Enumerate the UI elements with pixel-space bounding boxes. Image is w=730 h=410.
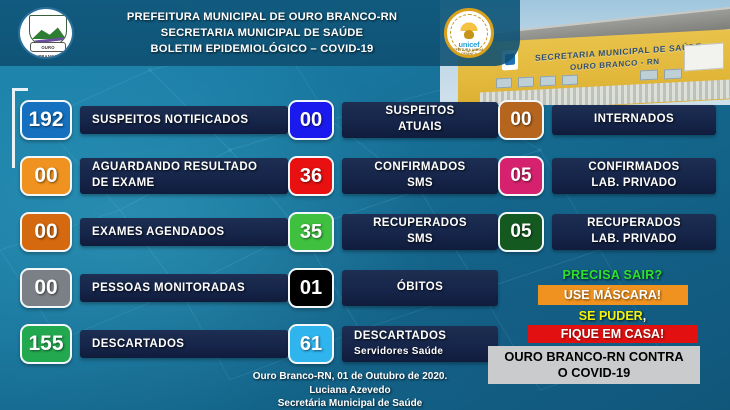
stat-row-internados: 00INTERNADOS	[498, 98, 716, 142]
stat-label-recuperados: RECUPERADOSSMS	[342, 214, 498, 250]
awareness-panel: PRECISA SAIR? USE MÁSCARA! SE PUDER, FIQ…	[500, 268, 725, 384]
stat-value-suspeitos: 00	[288, 100, 334, 140]
stat-value-confirmados: 05	[498, 156, 544, 196]
stat-row-recuperados: 35RECUPERADOSSMS	[288, 210, 498, 254]
stat-row-recuperados: 05RECUPERADOSLAB. PRIVADO	[498, 210, 716, 254]
stat-label-descartados: DESCARTADOSServidores Saúde	[342, 326, 498, 362]
stat-label-line2: Servidores Saúde	[354, 345, 443, 359]
stat-label-line1: RECUPERADOS	[587, 216, 681, 232]
awareness-se-puder-comma: ,	[643, 309, 646, 323]
stat-label-line2: ATUAIS	[398, 120, 442, 136]
stats-column-left: 192SUSPEITOS NOTIFICADOS00AGUARDANDO RES…	[20, 98, 288, 378]
stat-row-confirmados: 05CONFIRMADOSLAB. PRIVADO	[498, 154, 716, 198]
awareness-use-mascara: USE MÁSCARA!	[538, 285, 688, 305]
stat-label-line2: LAB. PRIVADO	[591, 232, 676, 248]
unicef-seal-icon: unicef PREFEITURA AMIGA DA CRIANÇA	[444, 8, 494, 58]
stat-value-descartados: 155	[20, 324, 72, 364]
unicef-figure	[464, 30, 474, 39]
stat-row-descartados: 155DESCARTADOS	[20, 322, 288, 366]
photo-window	[496, 78, 512, 89]
stats-column-right: 00INTERNADOS05CONFIRMADOSLAB. PRIVADO05R…	[498, 98, 716, 266]
stat-label-line1: PESSOAS MONITORADAS	[92, 282, 245, 294]
stat-row-pessoas-monitoradas: 00PESSOAS MONITORADAS	[20, 266, 288, 310]
stat-value-pessoas-monitoradas: 00	[20, 268, 72, 308]
crest-ribbon-label: OURO BRANCO	[30, 42, 66, 52]
awareness-precisa-sair: PRECISA SAIR?	[500, 268, 725, 282]
stat-row-exames-agendados: 00EXAMES AGENDADOS	[20, 210, 288, 254]
stat-label-line2: SMS	[407, 176, 433, 192]
stat-label-line2: DE EXAME	[92, 176, 154, 192]
stat-value-recuperados: 35	[288, 212, 334, 252]
photo-window	[540, 76, 556, 87]
stat-label-line1: RECUPERADOS	[373, 216, 467, 232]
footer: Ouro Branco-RN, 01 de Outubro de 2020. L…	[150, 370, 550, 410]
stat-label-descartados: DESCARTADOS	[80, 330, 288, 358]
footer-author: Luciana Azevedo	[150, 384, 550, 398]
stat-row-obitos: 01ÓBITOS	[288, 266, 498, 310]
stat-value-obitos: 01	[288, 268, 334, 308]
stat-value-suspeitos-notificados: 192	[20, 100, 72, 140]
stat-label-suspeitos-notificados: SUSPEITOS NOTIFICADOS	[80, 106, 288, 134]
unicef-subtitle: PREFEITURA AMIGA DA CRIANÇA	[447, 48, 491, 56]
stats-column-middle: 00SUSPEITOSATUAIS36CONFIRMADOSSMS35RECUP…	[288, 98, 498, 378]
stat-label-line1: INTERNADOS	[594, 112, 674, 128]
stat-label-exames-agendados: EXAMES AGENDADOS	[80, 218, 288, 246]
stat-label-line1: CONFIRMADOS	[588, 160, 679, 176]
awareness-fique-em-casa: FIQUE EM CASA!	[528, 325, 698, 343]
stat-label-confirmados: CONFIRMADOSLAB. PRIVADO	[552, 158, 716, 194]
stat-row-confirmados: 36CONFIRMADOSSMS	[288, 154, 498, 198]
stat-label-pessoas-monitoradas: PESSOAS MONITORADAS	[80, 274, 288, 302]
stat-label-aguardando-resultado: AGUARDANDO RESULTADODE EXAME	[80, 158, 288, 194]
footer-date: Ouro Branco-RN, 01 de Outubro de 2020.	[150, 370, 550, 384]
stat-label-internados: INTERNADOS	[552, 105, 716, 135]
crest-hill	[32, 25, 66, 39]
stat-row-suspeitos: 00SUSPEITOSATUAIS	[288, 98, 498, 142]
stat-label-line2: LAB. PRIVADO	[591, 176, 676, 192]
stat-value-aguardando-resultado: 00	[20, 156, 72, 196]
stat-label-line1: AGUARDANDO RESULTADO	[92, 160, 257, 176]
building-plaque	[684, 43, 724, 72]
stat-value-exames-agendados: 00	[20, 212, 72, 252]
stat-value-confirmados: 36	[288, 156, 334, 196]
header-line-boletim: BOLETIM EPIDEMIOLÓGICO – COVID-19	[82, 41, 442, 57]
stat-row-suspeitos-notificados: 192SUSPEITOS NOTIFICADOS	[20, 98, 288, 142]
stat-label-line1: ÓBITOS	[397, 280, 443, 296]
photo-window	[640, 70, 658, 81]
awareness-contra-line1: OURO BRANCO-RN CONTRA	[492, 349, 696, 365]
stat-label-recuperados: RECUPERADOSLAB. PRIVADO	[552, 214, 716, 250]
footer-role: Secretária Municipal de Saúde	[150, 397, 550, 410]
stat-row-descartados: 61DESCARTADOSServidores Saúde	[288, 322, 498, 366]
stat-label-confirmados: CONFIRMADOSSMS	[342, 158, 498, 194]
stat-label-line1: CONFIRMADOS	[374, 160, 465, 176]
header-line-secretaria: SECRETARIA MUNICIPAL DE SAÚDE	[82, 25, 442, 41]
header-titles: PREFEITURA MUNICIPAL DE OURO BRANCO-RN S…	[82, 9, 442, 58]
awareness-se-puder-text: SE PUDER	[579, 309, 643, 323]
stat-label-line1: SUSPEITOS NOTIFICADOS	[92, 114, 248, 126]
stat-label-suspeitos: SUSPEITOSATUAIS	[342, 102, 498, 138]
photo-window	[664, 69, 682, 80]
stat-value-descartados: 61	[288, 324, 334, 364]
stat-value-recuperados: 05	[498, 212, 544, 252]
photo-window	[562, 75, 578, 86]
photo-window	[518, 77, 534, 88]
stat-label-obitos: ÓBITOS	[342, 270, 498, 306]
municipal-crest-icon: OURO BRANCO	[18, 7, 74, 59]
stat-label-line1: EXAMES AGENDADOS	[92, 226, 225, 238]
stat-label-line1: DESCARTADOS	[354, 329, 446, 345]
stat-label-line1: DESCARTADOS	[92, 338, 184, 350]
stat-row-aguardando-resultado: 00AGUARDANDO RESULTADODE EXAME	[20, 154, 288, 198]
stat-value-internados: 00	[498, 100, 544, 140]
stat-label-line2: SMS	[407, 232, 433, 248]
stat-label-line1: SUSPEITOS	[385, 104, 454, 120]
awareness-se-puder: SE PUDER,	[500, 309, 725, 323]
header-line-prefeitura: PREFEITURA MUNICIPAL DE OURO BRANCO-RN	[82, 9, 442, 25]
crest-shield	[29, 15, 67, 45]
